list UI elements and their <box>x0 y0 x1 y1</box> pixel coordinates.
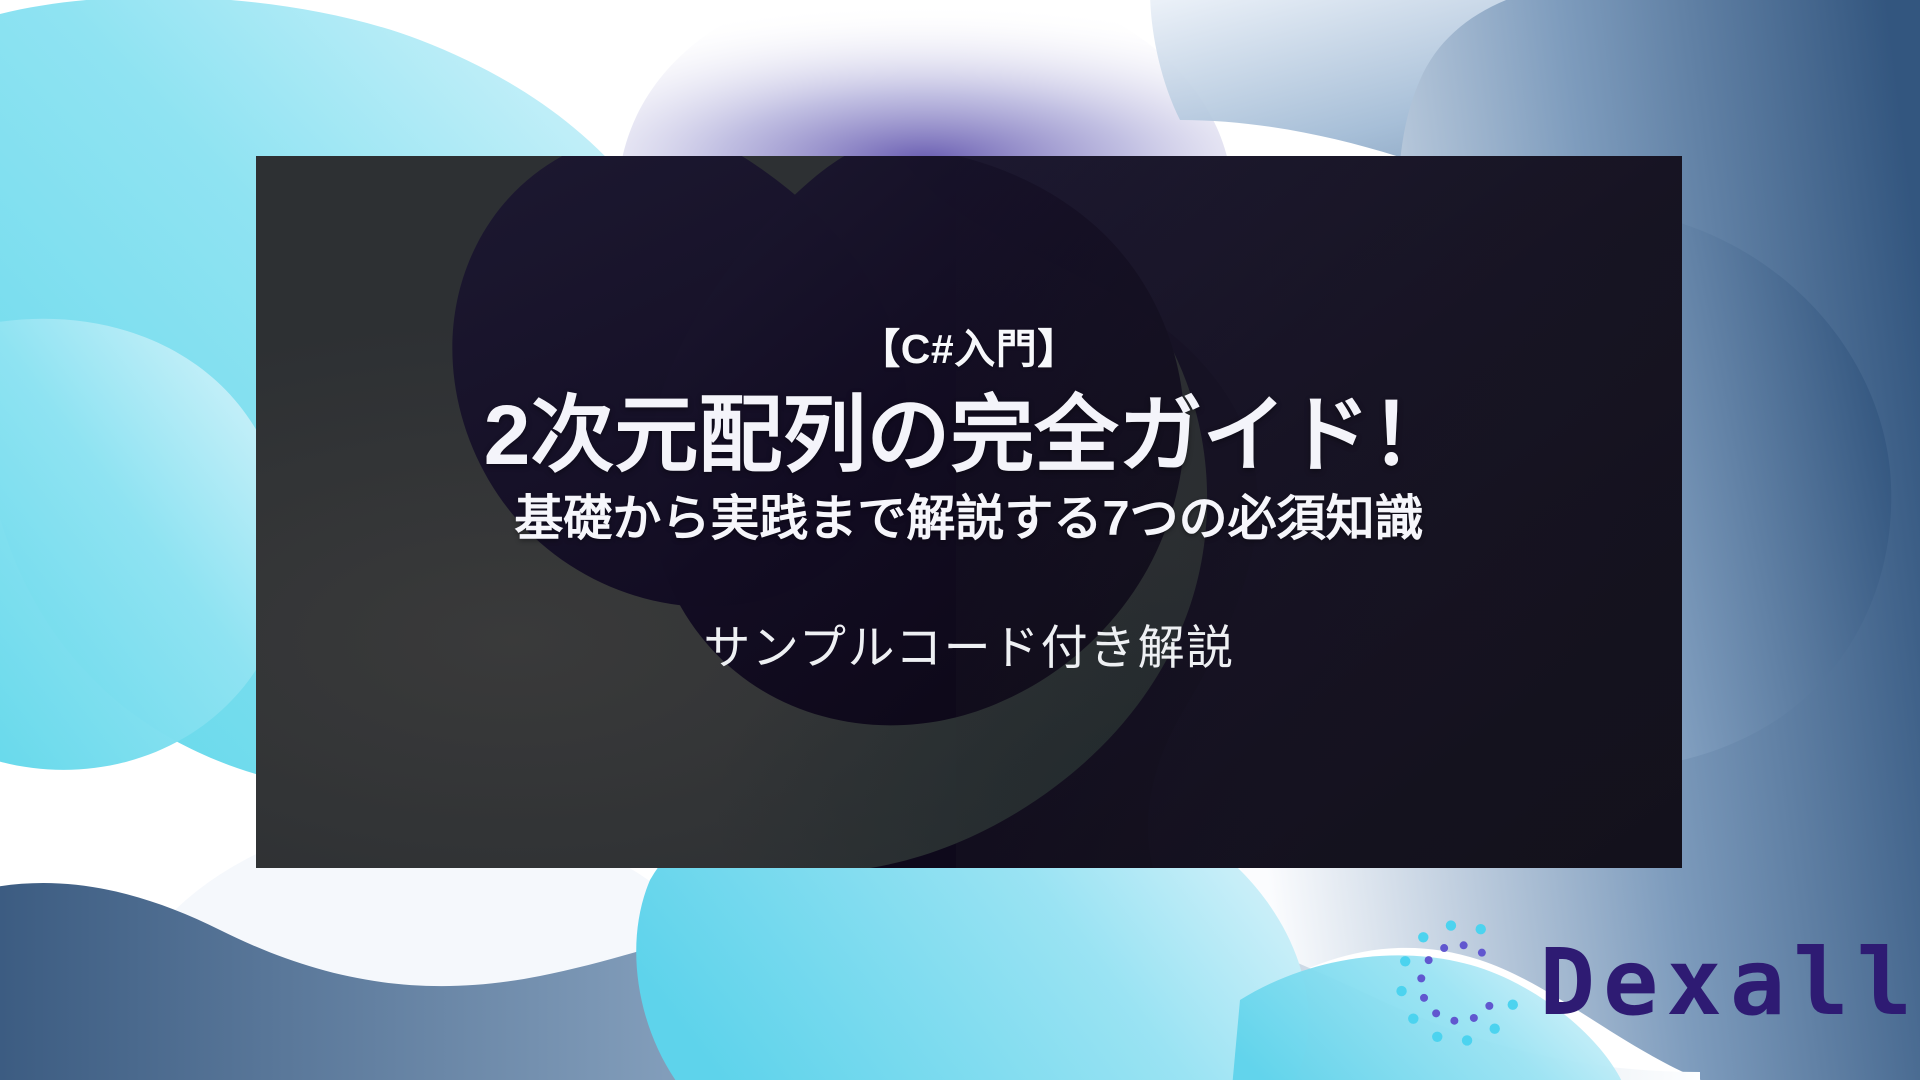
logo-dot <box>1478 949 1486 957</box>
logo-dot <box>1400 956 1410 966</box>
logo-dot <box>1420 994 1428 1002</box>
logo-inner-dot-ring <box>1417 941 1493 1024</box>
logo-dot <box>1459 941 1467 949</box>
logo-dot <box>1485 1002 1493 1010</box>
logo-dot <box>1424 956 1432 964</box>
brand-wordmark: Dexall <box>1540 937 1920 1029</box>
purple-glow-top-center <box>620 0 1230 170</box>
brand-logo: Dexall <box>1384 908 1920 1058</box>
logo-dot <box>1462 1035 1472 1045</box>
dexall-dot-ring-icon <box>1384 908 1534 1058</box>
logo-dot <box>1475 924 1485 934</box>
logo-dot <box>1432 1032 1442 1042</box>
logo-dot <box>1396 986 1406 996</box>
logo-dot <box>1507 1000 1517 1010</box>
logo-dot <box>1432 1009 1440 1017</box>
logo-dot <box>1445 920 1455 930</box>
hero-card <box>256 156 1682 868</box>
logo-dot <box>1470 1014 1478 1022</box>
logo-dot <box>1417 974 1425 982</box>
logo-dot <box>1418 932 1428 942</box>
logo-outer-dot-ring <box>1396 920 1518 1045</box>
logo-dot <box>1489 1024 1499 1034</box>
logo-dot <box>1408 1014 1418 1024</box>
card-dark-purple-blob <box>256 156 1682 868</box>
logo-dot <box>1440 944 1448 952</box>
logo-dot <box>1450 1017 1458 1025</box>
